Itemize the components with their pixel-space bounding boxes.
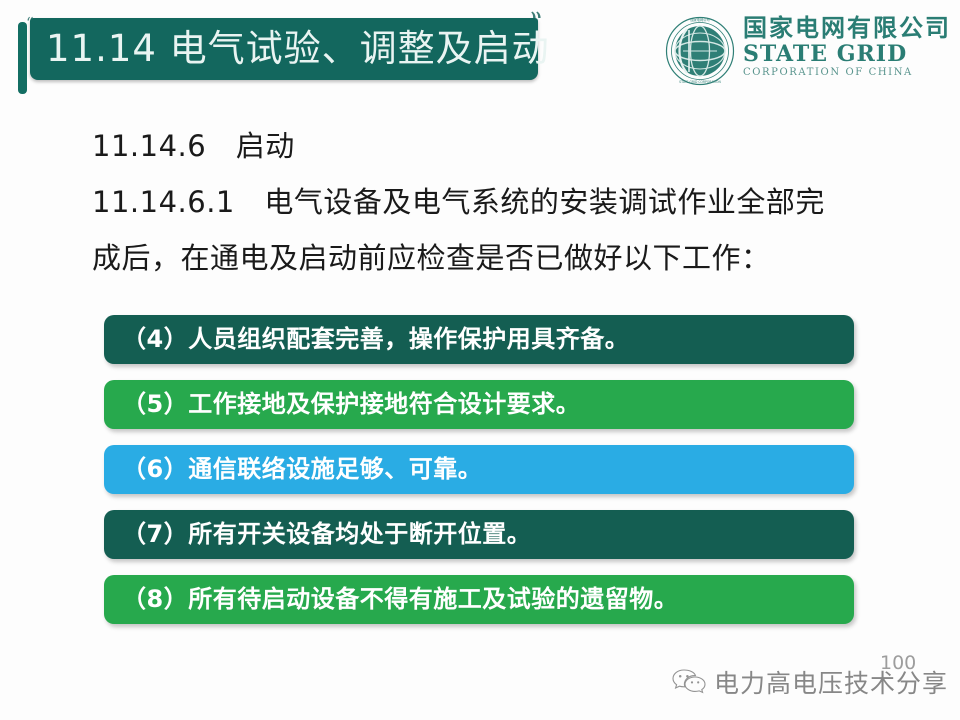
list-item-label: （4）人员组织配套完善，操作保护用具齐备。 bbox=[122, 315, 629, 364]
list-item-label: （7）所有开关设备均处于断开位置。 bbox=[122, 510, 531, 559]
paragraph-line-1: 11.14.6.1 电气设备及电气系统的安装调试作业全部完 bbox=[92, 174, 892, 230]
svg-text:国家电网公司: 国家电网公司 bbox=[690, 17, 709, 22]
list-item: （7）所有开关设备均处于断开位置。 bbox=[104, 510, 854, 559]
list-item: （8）所有待启动设备不得有施工及试验的遗留物。 bbox=[104, 575, 854, 624]
list-item: （4）人员组织配套完善，操作保护用具齐备。 bbox=[104, 315, 854, 364]
state-grid-globe-emblem-icon: 国家电网公司 STATE GRID CORPORATION bbox=[665, 16, 735, 86]
list-item-label: （8）所有待启动设备不得有施工及试验的遗留物。 bbox=[122, 575, 678, 624]
section-heading: 11.14.6 启动 bbox=[92, 118, 892, 174]
paragraph-line-2: 成后，在通电及启动前应检查是否已做好以下工作： bbox=[92, 230, 892, 286]
title-accent-bar bbox=[18, 22, 27, 94]
logo-wordmark: 国家电网有限公司 STATE GRID CORPORATION OF CHINA bbox=[743, 14, 948, 80]
logo-company-name-en: STATE GRID bbox=[743, 42, 948, 66]
list-item: （5）工作接地及保护接地符合设计要求。 bbox=[104, 380, 854, 429]
logo-company-name-cn: 国家电网有限公司 bbox=[743, 14, 948, 42]
slide-title-banner: “ “ 11.14 电气试验、调整及启动 bbox=[18, 18, 538, 86]
page-title: 11.14 电气试验、调整及启动 bbox=[46, 18, 550, 80]
checklist-items: （4）人员组织配套完善，操作保护用具齐备。 （5）工作接地及保护接地符合设计要求… bbox=[104, 315, 854, 640]
page-number: 100 bbox=[880, 652, 916, 674]
list-item-label: （6）通信联络设施足够、可靠。 bbox=[122, 445, 482, 494]
wechat-icon bbox=[672, 668, 706, 696]
list-item-label: （5）工作接地及保护接地符合设计要求。 bbox=[122, 380, 580, 429]
svg-text:STATE GRID CORPORATION: STATE GRID CORPORATION bbox=[679, 80, 721, 84]
brand-logo: 国家电网公司 STATE GRID CORPORATION 国家电网有限公司 S… bbox=[665, 14, 950, 90]
list-item: （6）通信联络设施足够、可靠。 bbox=[104, 445, 854, 494]
logo-company-subtitle: CORPORATION OF CHINA bbox=[743, 66, 948, 80]
title-box: 11.14 电气试验、调整及启动 bbox=[30, 18, 538, 80]
body-text-block: 11.14.6 启动 11.14.6.1 电气设备及电气系统的安装调试作业全部完… bbox=[92, 118, 892, 286]
